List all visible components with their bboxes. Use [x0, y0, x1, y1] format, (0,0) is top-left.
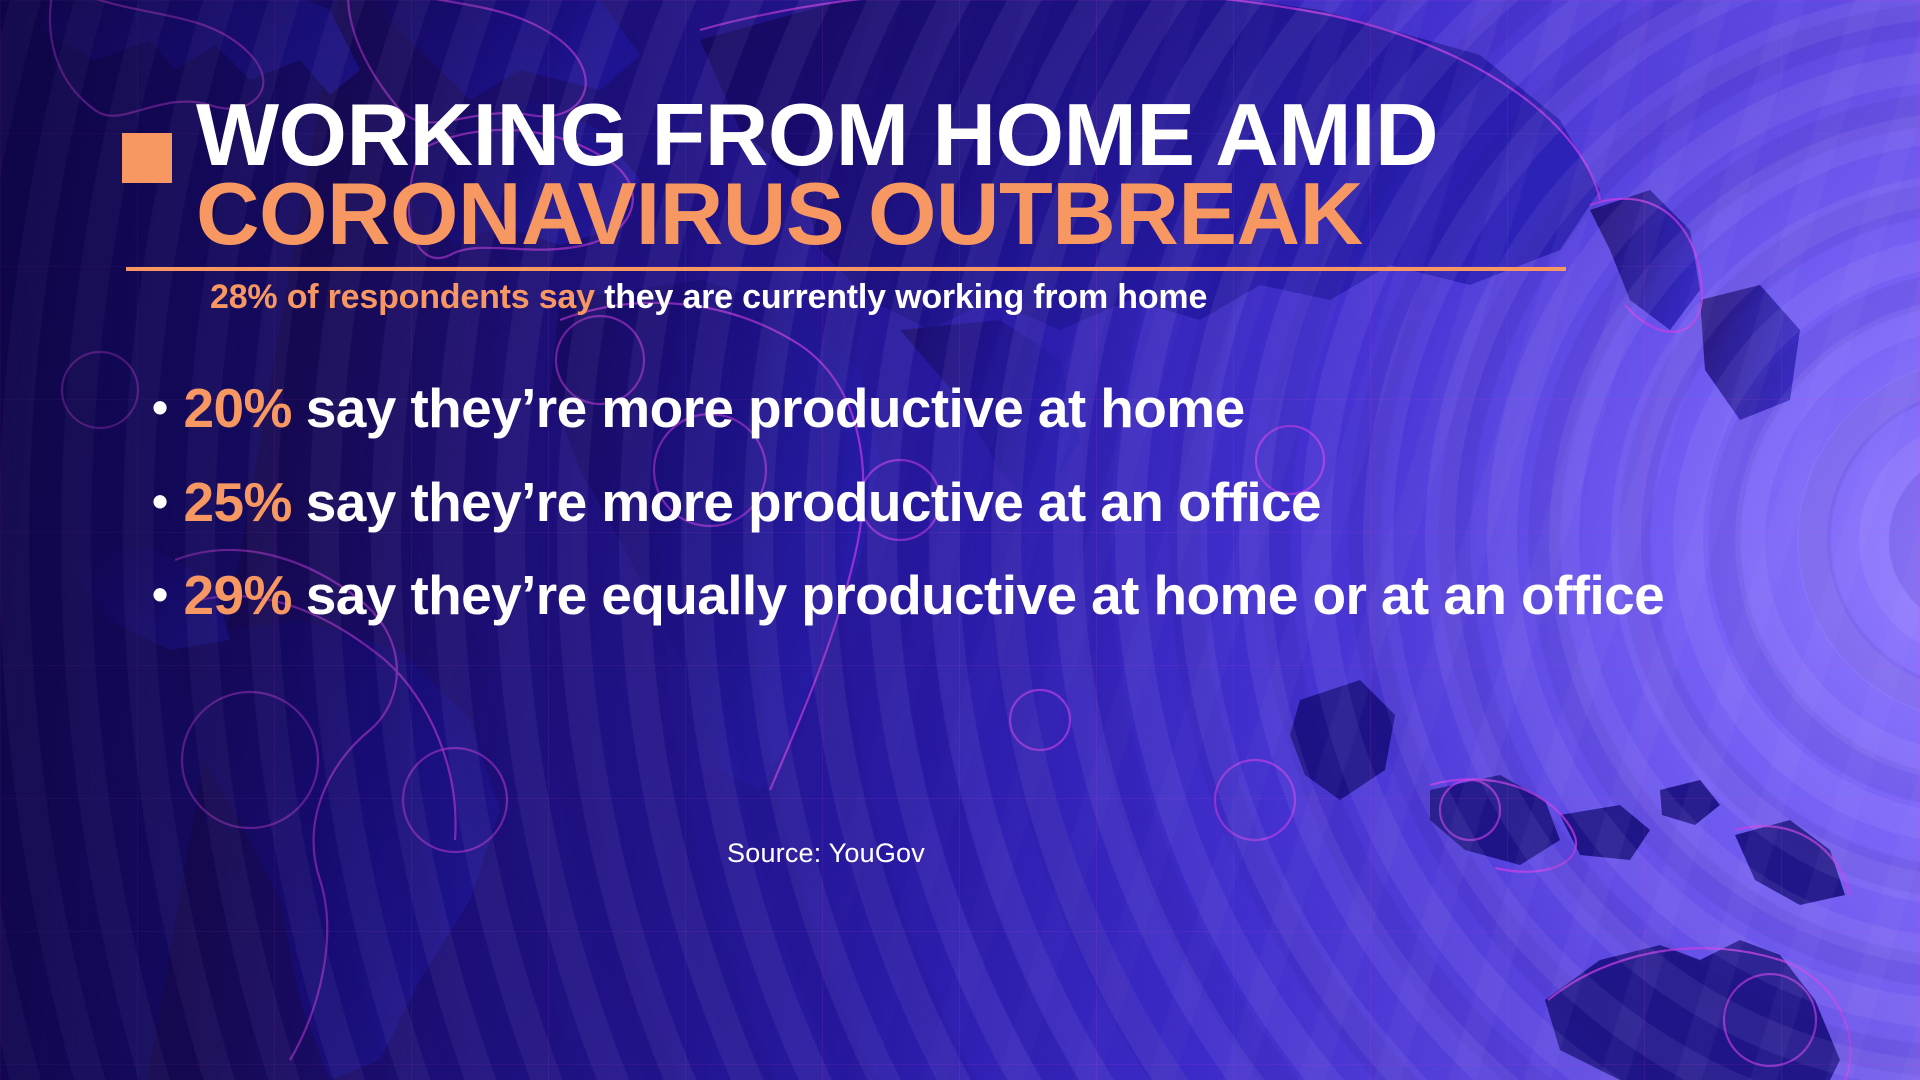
bullet-percent: 25% — [184, 472, 292, 534]
source-label: Source: YouGov — [727, 838, 925, 869]
bullet-percent: 20% — [184, 378, 292, 440]
bullet-percent: 29% — [184, 565, 292, 627]
list-item: • 20% say they’re more productive at hom… — [152, 378, 1852, 440]
headline-underline-rule — [126, 267, 1566, 271]
bullet-dot-icon: • — [152, 478, 168, 524]
headline-block: WORKING FROM HOME AMID CORONAVIRUS OUTBR… — [122, 95, 1566, 271]
bullet-text: say they’re equally productive at home o… — [306, 565, 1664, 627]
bullet-list: • 20% say they’re more productive at hom… — [152, 378, 1852, 659]
headline-row: WORKING FROM HOME AMID CORONAVIRUS OUTBR… — [122, 95, 1566, 255]
list-item: • 25% say they’re more productive at an … — [152, 472, 1852, 534]
subtitle-rest: they are currently working from home — [595, 278, 1207, 316]
list-item: • 29% say they’re equally productive at … — [152, 565, 1772, 627]
headline-line-2: CORONAVIRUS OUTBREAK — [196, 174, 1438, 255]
infographic-slide: WORKING FROM HOME AMID CORONAVIRUS OUTBR… — [0, 0, 1920, 1080]
orange-square-icon — [122, 133, 172, 183]
headline-lines: WORKING FROM HOME AMID CORONAVIRUS OUTBR… — [196, 95, 1438, 255]
bullet-text: say they’re more productive at an office — [306, 472, 1321, 534]
bullet-text: say they’re more productive at home — [306, 378, 1245, 440]
slide-content: WORKING FROM HOME AMID CORONAVIRUS OUTBR… — [0, 0, 1920, 1080]
bullet-dot-icon: • — [152, 384, 168, 430]
bullet-dot-icon: • — [152, 571, 168, 617]
source-attribution: Source: YouGov — [0, 838, 1920, 869]
subtitle: 28% of respondents say they are currentl… — [210, 278, 1207, 317]
subtitle-highlight: 28% of respondents say — [210, 278, 595, 316]
